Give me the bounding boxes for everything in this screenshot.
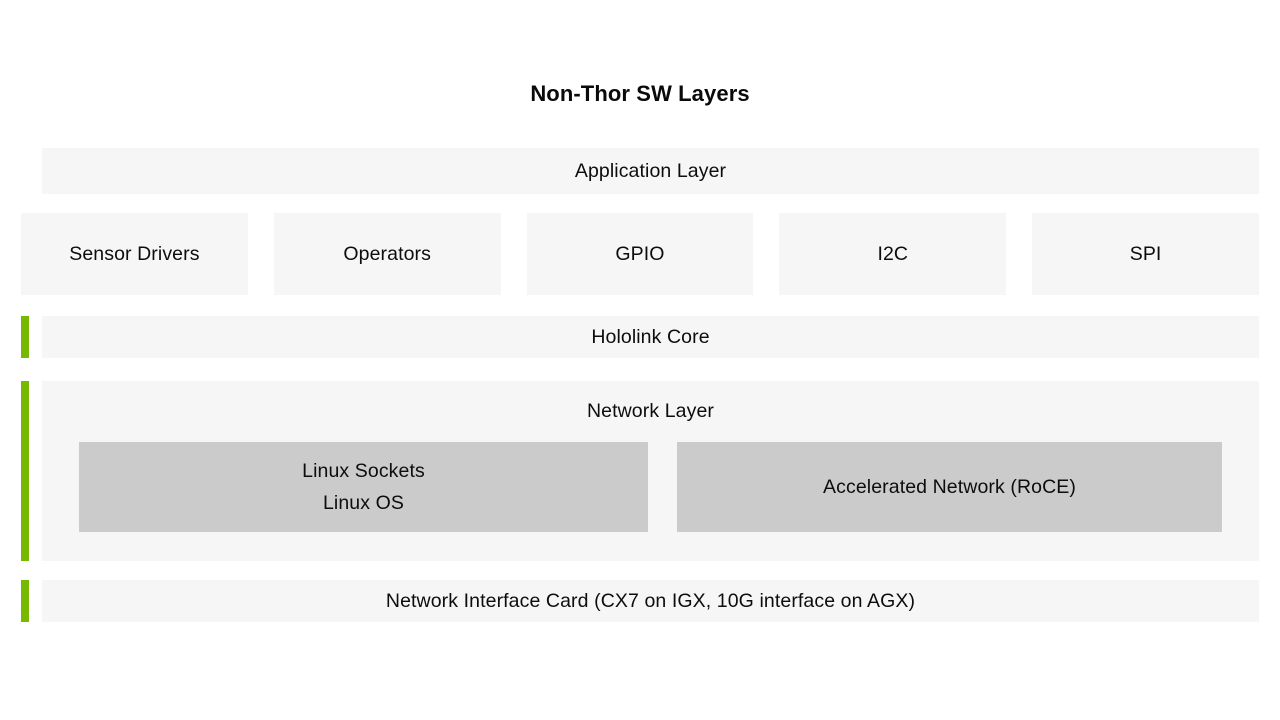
diagram-canvas: Non-Thor SW Layers Application Layer Sen… [0, 0, 1280, 720]
module-box-operators[interactable]: Operators [274, 213, 501, 295]
accent-bar-icon [21, 316, 29, 358]
module-box-sensor-drivers[interactable]: Sensor Drivers [21, 213, 248, 295]
sub-box-accelerated-network[interactable]: Accelerated Network (RoCE) [677, 442, 1222, 532]
layer-application[interactable]: Application Layer [21, 148, 1259, 194]
module-label: Operators [343, 243, 431, 266]
nic-label: Network Interface Card (CX7 on IGX, 10G … [386, 588, 915, 614]
network-children-row: Linux Sockets Linux OS Accelerated Netwo… [42, 442, 1259, 532]
diagram-title: Non-Thor SW Layers [0, 80, 1280, 108]
module-row: Sensor Drivers Operators GPIO I2C SPI [21, 213, 1259, 295]
sub-box-linux-sockets[interactable]: Linux Sockets Linux OS [79, 442, 648, 532]
hololink-core-label: Hololink Core [591, 324, 709, 350]
module-label: GPIO [615, 243, 664, 266]
layer-spacer [29, 381, 42, 561]
accent-bar-placeholder [21, 148, 29, 194]
module-label: Sensor Drivers [69, 243, 199, 266]
layer-hololink-core[interactable]: Hololink Core [21, 316, 1259, 358]
module-box-i2c[interactable]: I2C [779, 213, 1006, 295]
layer-spacer [29, 580, 42, 622]
application-layer-label: Application Layer [575, 158, 726, 184]
layer-spacer [29, 148, 42, 194]
accent-bar-icon [21, 381, 29, 561]
layer-spacer [29, 316, 42, 358]
hololink-core-panel[interactable]: Hololink Core [42, 316, 1259, 358]
network-layer-panel[interactable]: Network Layer Linux Sockets Linux OS Acc… [42, 381, 1259, 561]
layer-network[interactable]: Network Layer Linux Sockets Linux OS Acc… [21, 381, 1259, 561]
module-label: I2C [877, 243, 908, 266]
nic-panel[interactable]: Network Interface Card (CX7 on IGX, 10G … [42, 580, 1259, 622]
application-layer-panel[interactable]: Application Layer [42, 148, 1259, 194]
sub-box-label-line1: Accelerated Network (RoCE) [823, 471, 1076, 503]
module-box-gpio[interactable]: GPIO [527, 213, 754, 295]
module-box-spi[interactable]: SPI [1032, 213, 1259, 295]
layer-network-interface-card[interactable]: Network Interface Card (CX7 on IGX, 10G … [21, 580, 1259, 622]
network-layer-label: Network Layer [42, 381, 1259, 442]
accent-bar-icon [21, 580, 29, 622]
sub-box-label-line1: Linux Sockets [302, 455, 425, 487]
module-label: SPI [1130, 243, 1162, 266]
sub-box-label-line2: Linux OS [323, 487, 404, 519]
